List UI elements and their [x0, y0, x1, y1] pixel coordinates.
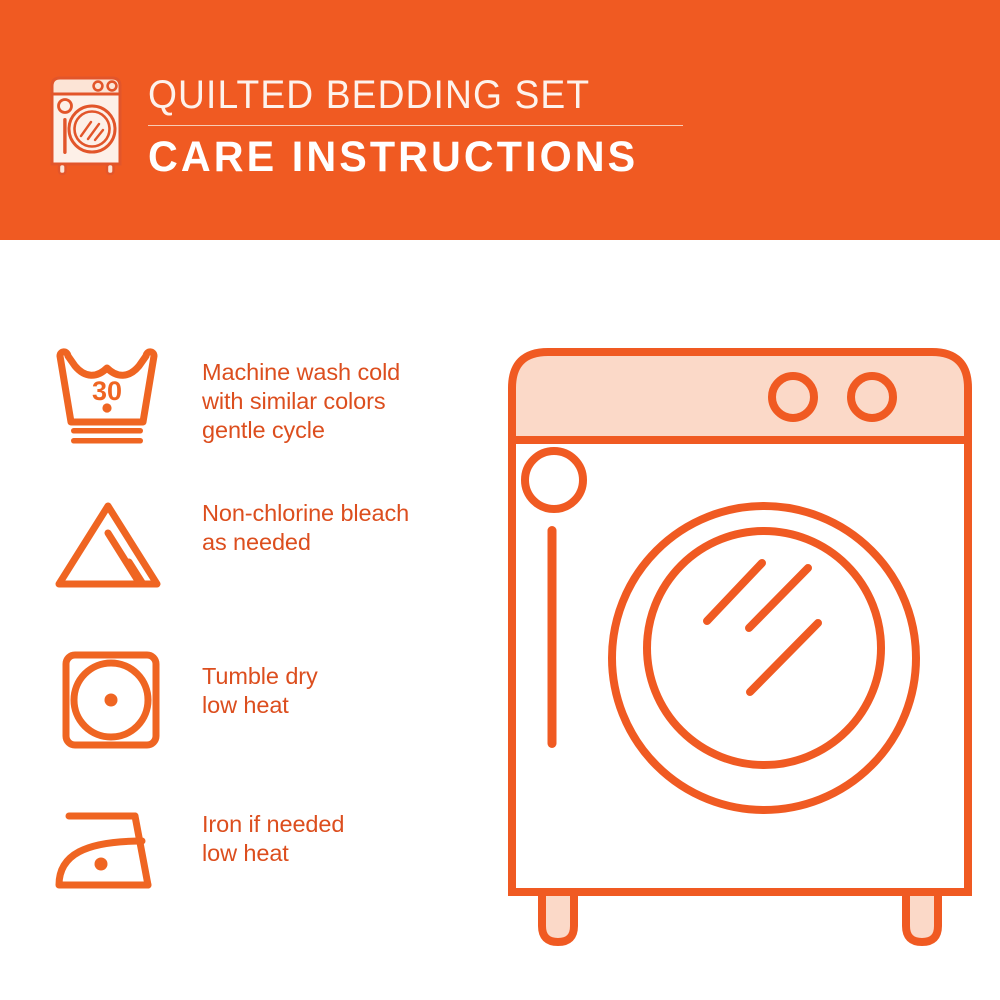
washing-machine-illustration	[490, 330, 990, 950]
care-row-bleach: Non-chlorine bleach as needed	[0, 485, 500, 635]
header-banner: QUILTED BEDDING SET CARE INSTRUCTIONS	[0, 0, 1000, 240]
care-line: low heat	[202, 839, 492, 868]
care-instruction-list: 30 Machine wash cold with similar colors…	[0, 240, 500, 1000]
care-line: Iron if needed	[202, 810, 492, 839]
knob-right	[851, 376, 893, 418]
header-title-group: QUILTED BEDDING SET CARE INSTRUCTIONS	[148, 74, 708, 180]
care-text-machine-wash: Machine wash cold with similar colors ge…	[202, 358, 492, 445]
wash-tub-icon: 30	[46, 336, 176, 456]
care-row-machine-wash: 30 Machine wash cold with similar colors…	[0, 336, 500, 486]
care-row-tumble-dry: Tumble dry low heat	[0, 640, 500, 790]
care-line: Non-chlorine bleach	[202, 499, 492, 528]
page-title: QUILTED BEDDING SET	[148, 74, 669, 116]
care-line: Machine wash cold	[202, 358, 492, 387]
care-line: with similar colors	[202, 387, 492, 416]
knob-left	[772, 376, 814, 418]
page-subtitle: CARE INSTRUCTIONS	[148, 134, 686, 180]
tumble-dry-icon	[46, 640, 176, 760]
care-instructions-infographic: QUILTED BEDDING SET CARE INSTRUCTIONS 30	[0, 0, 1000, 1000]
care-text-bleach: Non-chlorine bleach as needed	[202, 499, 492, 557]
foot-left	[542, 892, 574, 942]
bleach-triangle-icon	[46, 485, 176, 605]
care-line: Tumble dry	[202, 662, 492, 691]
care-text-tumble-dry: Tumble dry low heat	[202, 662, 492, 720]
wash-temperature-label: 30	[92, 376, 122, 406]
care-line: low heat	[202, 691, 492, 720]
foot-right	[906, 892, 938, 942]
control-panel	[512, 352, 968, 440]
washing-machine-icon	[42, 66, 134, 178]
care-line: as needed	[202, 528, 492, 557]
care-line: gentle cycle	[202, 416, 492, 445]
care-text-iron: Iron if needed low heat	[202, 810, 492, 868]
vertical-slot	[548, 526, 557, 748]
title-divider	[148, 125, 683, 126]
iron-icon	[46, 790, 176, 910]
care-row-iron: Iron if needed low heat	[0, 790, 500, 940]
